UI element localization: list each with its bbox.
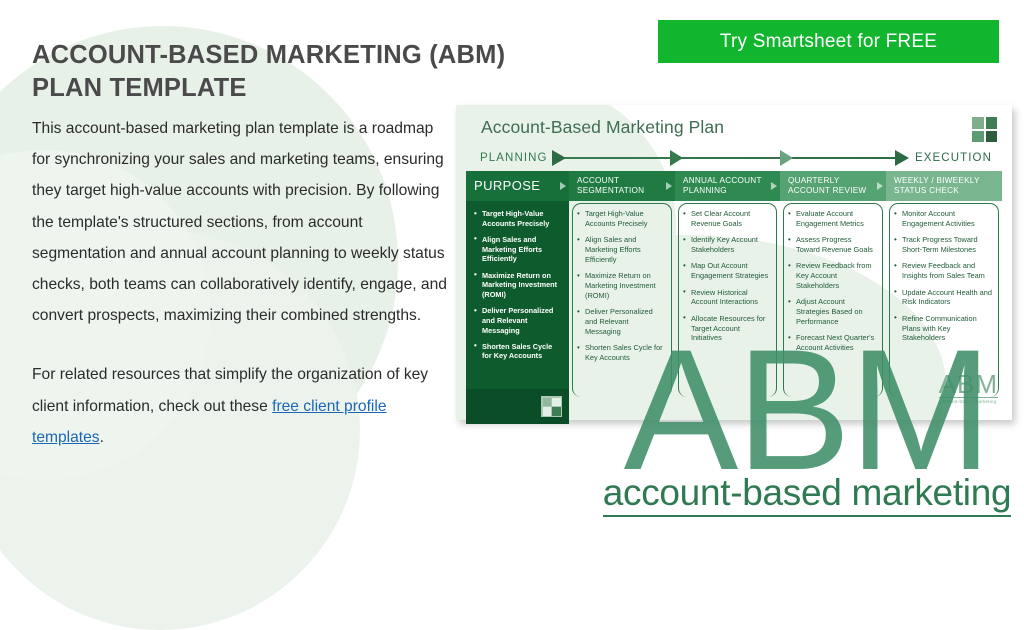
column-header-3: QUARTERLY ACCOUNT REVIEW xyxy=(780,171,886,201)
column-header-4: WEEKLY / BIWEEKLY STATUS CHECK xyxy=(886,171,1002,201)
chevron-right-icon xyxy=(877,182,883,190)
chevron-right-icon xyxy=(670,150,683,166)
list-item: Shorten Sales Cycle for Key Accounts xyxy=(482,342,560,361)
list-item: Target High-Value Accounts Precisely xyxy=(482,209,560,228)
column-header-label: WEEKLY / BIWEEKLY STATUS CHECK xyxy=(894,176,980,197)
list-item: Shorten Sales Cycle for Key Accounts xyxy=(585,343,666,363)
card-footer-block xyxy=(466,389,569,424)
four-squares-icon-footer xyxy=(541,396,562,417)
paragraph-spacer xyxy=(32,331,450,359)
paragraph-one: This account-based marketing plan templa… xyxy=(32,113,450,331)
page-title: ACCOUNT-BASED MARKETING (ABM)PLAN TEMPLA… xyxy=(32,39,592,105)
list-item: Update Account Health and Risk Indicator… xyxy=(902,288,993,308)
try-smartsheet-button[interactable]: Try Smartsheet for FREE xyxy=(658,20,999,63)
column-header-label: PURPOSE xyxy=(474,178,540,194)
list-item: Target High-Value Accounts Precisely xyxy=(585,209,666,229)
list-item: Refine Communication Plans with Key Stak… xyxy=(902,314,993,344)
list-item: Set Clear Account Revenue Goals xyxy=(691,209,771,229)
column-header-2: ANNUAL ACCOUNT PLANNING xyxy=(675,171,780,201)
list-item: Maximize Return on Marketing Investment … xyxy=(482,271,560,300)
card-abm-logo-text: ABM xyxy=(939,373,998,396)
planning-label: PLANNING xyxy=(480,152,548,164)
abm-watermark-tagline: account-based marketing xyxy=(603,472,1012,517)
cta-label: Try Smartsheet for FREE xyxy=(720,31,937,53)
chevron-right-icon xyxy=(771,182,777,190)
chevron-right-icon xyxy=(552,150,566,166)
template-preview-card[interactable]: Account-Based Marketing Plan PLANNING EX… xyxy=(456,105,1012,420)
list-item: Assess Progress Toward Revenue Goals xyxy=(796,235,877,255)
column-header-1: ACCOUNT SEGMENTATION xyxy=(569,171,675,201)
list-item: Review Feedback and Insights from Sales … xyxy=(902,261,993,281)
column-body-1: Target High-Value Accounts PreciselyAlig… xyxy=(569,201,675,389)
column-bullet-list: Evaluate Account Engagement MetricsAsses… xyxy=(787,209,879,353)
column-header-row: PURPOSEACCOUNT SEGMENTATIONANNUAL ACCOUN… xyxy=(466,171,1002,201)
column-header-label: QUARTERLY ACCOUNT REVIEW xyxy=(788,176,866,197)
list-item: Forecast Next Quarter's Account Activiti… xyxy=(796,333,877,353)
paragraph-two: For related resources that simplify the … xyxy=(32,359,450,453)
list-item: Review Historical Account Interactions xyxy=(691,288,771,308)
card-abm-logo: ABM account-based marketing xyxy=(939,373,998,404)
description-block: This account-based marketing plan templa… xyxy=(32,113,450,453)
process-flow-arrow: PLANNING EXECUTION xyxy=(480,149,992,167)
column-body-3: Evaluate Account Engagement MetricsAsses… xyxy=(780,201,886,389)
arrow-track xyxy=(552,149,909,167)
chevron-right-icon xyxy=(895,150,909,166)
column-body-0: Target High-Value Accounts PreciselyAlig… xyxy=(466,201,569,389)
four-squares-icon xyxy=(970,115,999,144)
list-item: Review Feedback from Key Account Stakeho… xyxy=(796,261,877,291)
column-header-label: ANNUAL ACCOUNT PLANNING xyxy=(683,176,762,197)
list-item: Map Out Account Engagement Strategies xyxy=(691,261,771,281)
chevron-right-icon xyxy=(560,182,566,190)
paragraph-two-tail: . xyxy=(100,429,104,446)
column-bullet-list: Set Clear Account Revenue GoalsIdentify … xyxy=(682,209,773,343)
list-item: Identify Key Account Stakeholders xyxy=(691,235,771,255)
chevron-right-icon xyxy=(666,182,672,190)
column-header-label: ACCOUNT SEGMENTATION xyxy=(577,176,644,197)
chevron-right-icon xyxy=(780,150,793,166)
execution-label: EXECUTION xyxy=(915,152,992,164)
list-item: Track Progress Toward Short-Term Milesto… xyxy=(902,235,993,255)
card-title: Account-Based Marketing Plan xyxy=(481,117,724,138)
list-item: Adjust Account Strategies Based on Perfo… xyxy=(796,297,877,327)
column-header-0: PURPOSE xyxy=(466,171,569,201)
list-item: Align Sales and Marketing Efforts Effici… xyxy=(482,235,560,264)
list-item: Deliver Personalized and Relevant Messag… xyxy=(482,306,560,335)
card-abm-logo-tagline: account-based marketing xyxy=(939,397,998,404)
column-body-row: Target High-Value Accounts PreciselyAlig… xyxy=(466,201,1002,389)
list-item: Evaluate Account Engagement Metrics xyxy=(796,209,877,229)
list-item: Align Sales and Marketing Efforts Effici… xyxy=(585,235,666,265)
column-body-2: Set Clear Account Revenue GoalsIdentify … xyxy=(675,201,780,389)
list-item: Allocate Resources for Target Account In… xyxy=(691,314,771,344)
list-item: Monitor Account Engagement Activities xyxy=(902,209,993,229)
column-bullet-list: Target High-Value Accounts PreciselyAlig… xyxy=(473,209,562,361)
column-bullet-list: Target High-Value Accounts PreciselyAlig… xyxy=(576,209,668,363)
column-bullet-list: Monitor Account Engagement ActivitiesTra… xyxy=(893,209,995,343)
column-body-4: Monitor Account Engagement ActivitiesTra… xyxy=(886,201,1002,389)
list-item: Maximize Return on Marketing Investment … xyxy=(585,271,666,301)
list-item: Deliver Personalized and Relevant Messag… xyxy=(585,307,666,337)
